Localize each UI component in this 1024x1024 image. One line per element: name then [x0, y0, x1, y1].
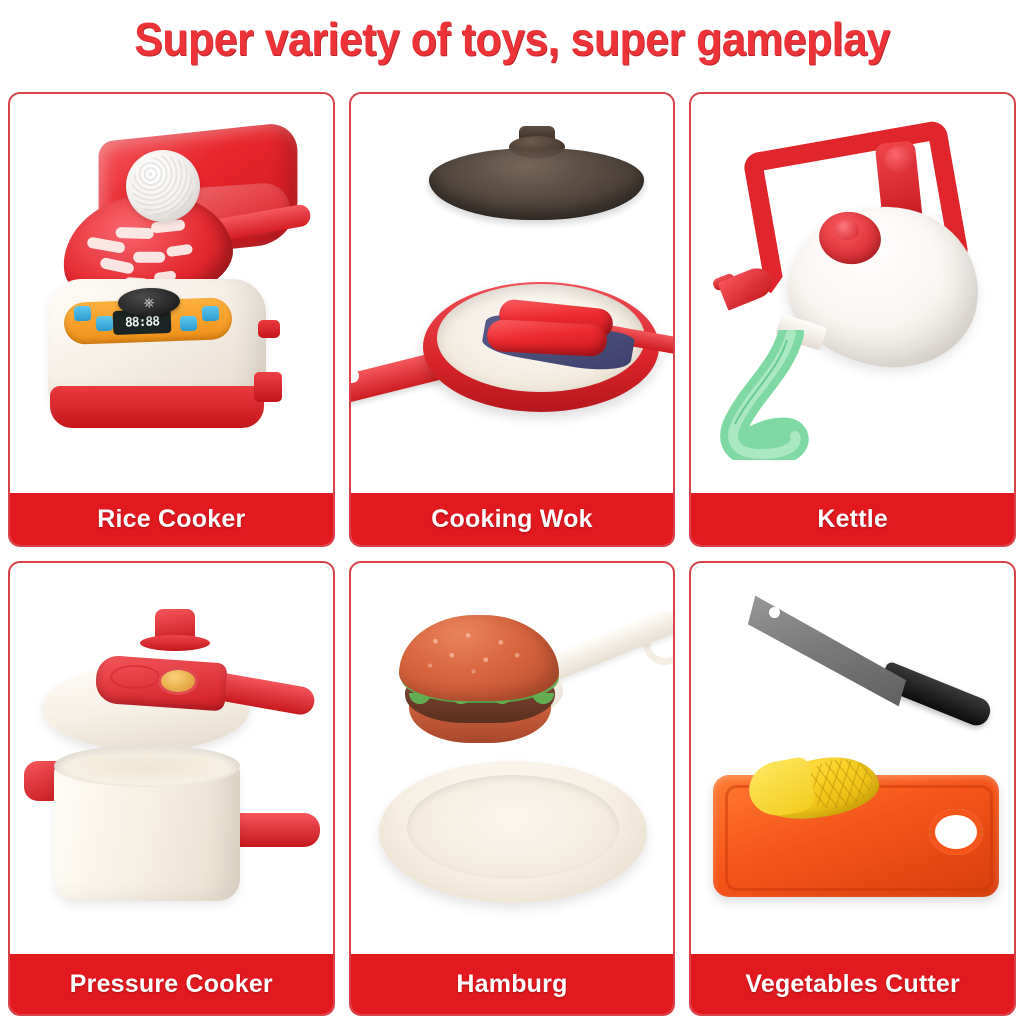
cutting-board-hanging-hole-icon [929, 809, 983, 855]
card-label-vegetables-cutter: Vegetables Cutter [691, 954, 1014, 1014]
vegetables-cutter-image [691, 563, 1014, 954]
display-value: 88:88 [125, 314, 160, 330]
card-label-cooking-wok: Cooking Wok [351, 493, 674, 545]
pressure-cooker-image [10, 563, 333, 954]
product-card-kettle[interactable]: Kettle [689, 92, 1016, 547]
card-label-pressure-cooker: Pressure Cooker [10, 954, 333, 1014]
lid-handle-groove-icon [110, 665, 160, 689]
card-label-hamburg: Hamburg [351, 954, 674, 1014]
panel-button-rice[interactable] [96, 316, 114, 332]
rice-ball-icon [126, 150, 200, 222]
basket-slot-icon [86, 236, 125, 253]
burger-top-bun-icon [399, 615, 559, 701]
product-card-hamburg[interactable]: Hamburg [349, 561, 676, 1016]
pot-interior-icon [66, 753, 228, 783]
page-title: Super variety of toys, super gameplay [36, 6, 988, 72]
green-liquid-pour-icon [703, 330, 813, 460]
rice-cooker-side-handle [254, 372, 282, 402]
cleaver-blade-icon [745, 588, 909, 714]
pressure-valve-base-icon [140, 635, 210, 651]
cooking-wok-image [351, 94, 674, 493]
basket-slot-icon [115, 227, 153, 239]
card-label-kettle: Kettle [691, 493, 1014, 545]
kettle-image [691, 94, 1014, 493]
panel-button-soup[interactable] [180, 316, 198, 332]
plate-inner-icon [407, 775, 619, 879]
product-card-cooking-wok[interactable]: Cooking Wok [349, 92, 676, 547]
rice-cooker-side-latch[interactable] [258, 320, 280, 338]
rice-cooker-image: 88:88 ⎈ [10, 94, 333, 493]
promo-page: Super variety of toys, super gameplay [0, 0, 1024, 1024]
panel-button-timer[interactable] [74, 306, 92, 322]
product-card-pressure-cooker[interactable]: Pressure Cooker [8, 561, 335, 1016]
basket-slot-icon [99, 257, 135, 275]
product-card-rice-cooker[interactable]: 88:88 ⎈ Rice Cooker [8, 92, 335, 547]
hamburg-image [351, 563, 674, 954]
basket-slot-icon [166, 244, 193, 258]
panel-button-menu[interactable] [202, 306, 220, 322]
product-grid: 88:88 ⎈ Rice Cooker [8, 92, 1016, 1016]
rice-cooker-base-icon [50, 386, 264, 428]
lid-dial-icon[interactable] [158, 667, 198, 695]
wok-glass-lid-icon [429, 148, 644, 220]
product-card-vegetables-cutter[interactable]: Vegetables Cutter [689, 561, 1016, 1016]
card-label-rice-cooker: Rice Cooker [10, 493, 333, 545]
basket-slot-icon [133, 252, 165, 263]
sausage-icon [486, 319, 608, 357]
